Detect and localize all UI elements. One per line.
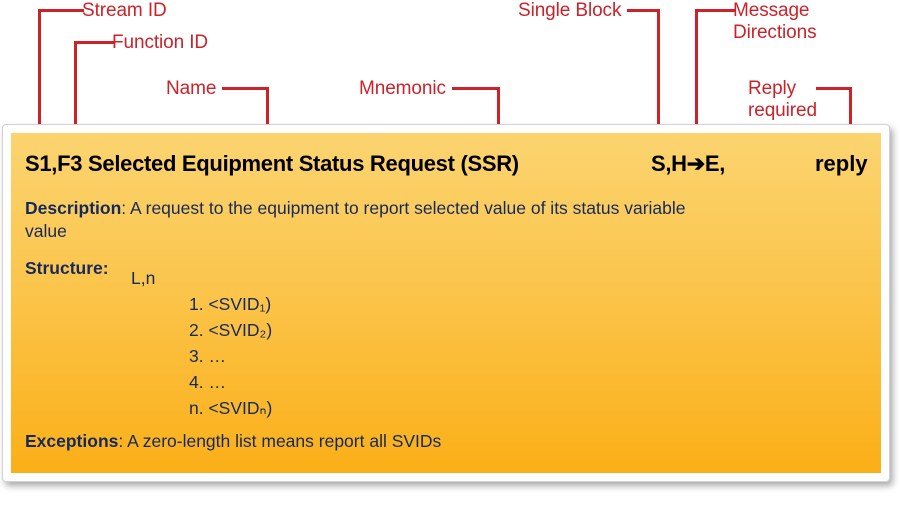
exceptions-separator: : <box>118 431 127 451</box>
callout-mnemonic: Mnemonic <box>359 78 446 100</box>
leader-name-horizontal <box>222 87 269 90</box>
callout-reply-required: Reply required <box>748 78 817 122</box>
leader-reply-required-horizontal <box>816 87 852 90</box>
panel-message-directions-value: S,H➔E, <box>651 151 725 177</box>
slide-canvas: Stream ID Function ID Name Mnemonic Sing… <box>0 0 900 509</box>
callout-function-id: Function ID <box>112 32 208 54</box>
panel-title-text: S1,F3 Selected Equipment Status Request … <box>25 151 519 177</box>
structure-label: Structure <box>25 258 103 278</box>
structure-separator: : <box>103 258 109 278</box>
list-item: 1. <SVID₁) <box>189 291 272 317</box>
structure-item-list: 1. <SVID₁) 2. <SVID₂) 3. … 4. … n. <SVID… <box>189 291 272 421</box>
panel-gradient-background: S1,F3 Selected Equipment Status Request … <box>11 133 881 473</box>
leader-stream-id-horizontal <box>38 9 84 12</box>
list-item: 4. … <box>189 369 272 395</box>
callout-message-directions: Message Directions <box>733 0 816 44</box>
callout-single-block: Single Block <box>518 0 621 22</box>
exceptions-block: Exceptions: A zero-length list means rep… <box>25 430 725 453</box>
exceptions-text: A zero-length list means report all SVID… <box>127 431 441 451</box>
description-separator: : <box>121 198 130 218</box>
panel-reply-value: reply <box>815 151 868 177</box>
callout-stream-id: Stream ID <box>82 0 167 22</box>
message-definition-panel: S1,F3 Selected Equipment Status Request … <box>2 124 890 482</box>
description-label: Description <box>25 198 121 218</box>
panel-title-row: S1,F3 Selected Equipment Status Request … <box>25 151 871 181</box>
callout-name: Name <box>166 78 216 100</box>
leader-message-directions-horizontal <box>695 9 736 12</box>
leader-mnemonic-horizontal <box>452 87 500 90</box>
list-item: n. <SVIDₙ) <box>189 395 272 421</box>
list-item: 2. <SVID₂) <box>189 317 272 343</box>
leader-single-block-horizontal <box>627 9 660 12</box>
leader-function-id-horizontal <box>74 41 114 44</box>
structure-header: L,n <box>131 267 155 290</box>
exceptions-label: Exceptions <box>25 431 118 451</box>
list-item: 3. … <box>189 343 272 369</box>
description-block: Description: A request to the equipment … <box>25 197 705 243</box>
